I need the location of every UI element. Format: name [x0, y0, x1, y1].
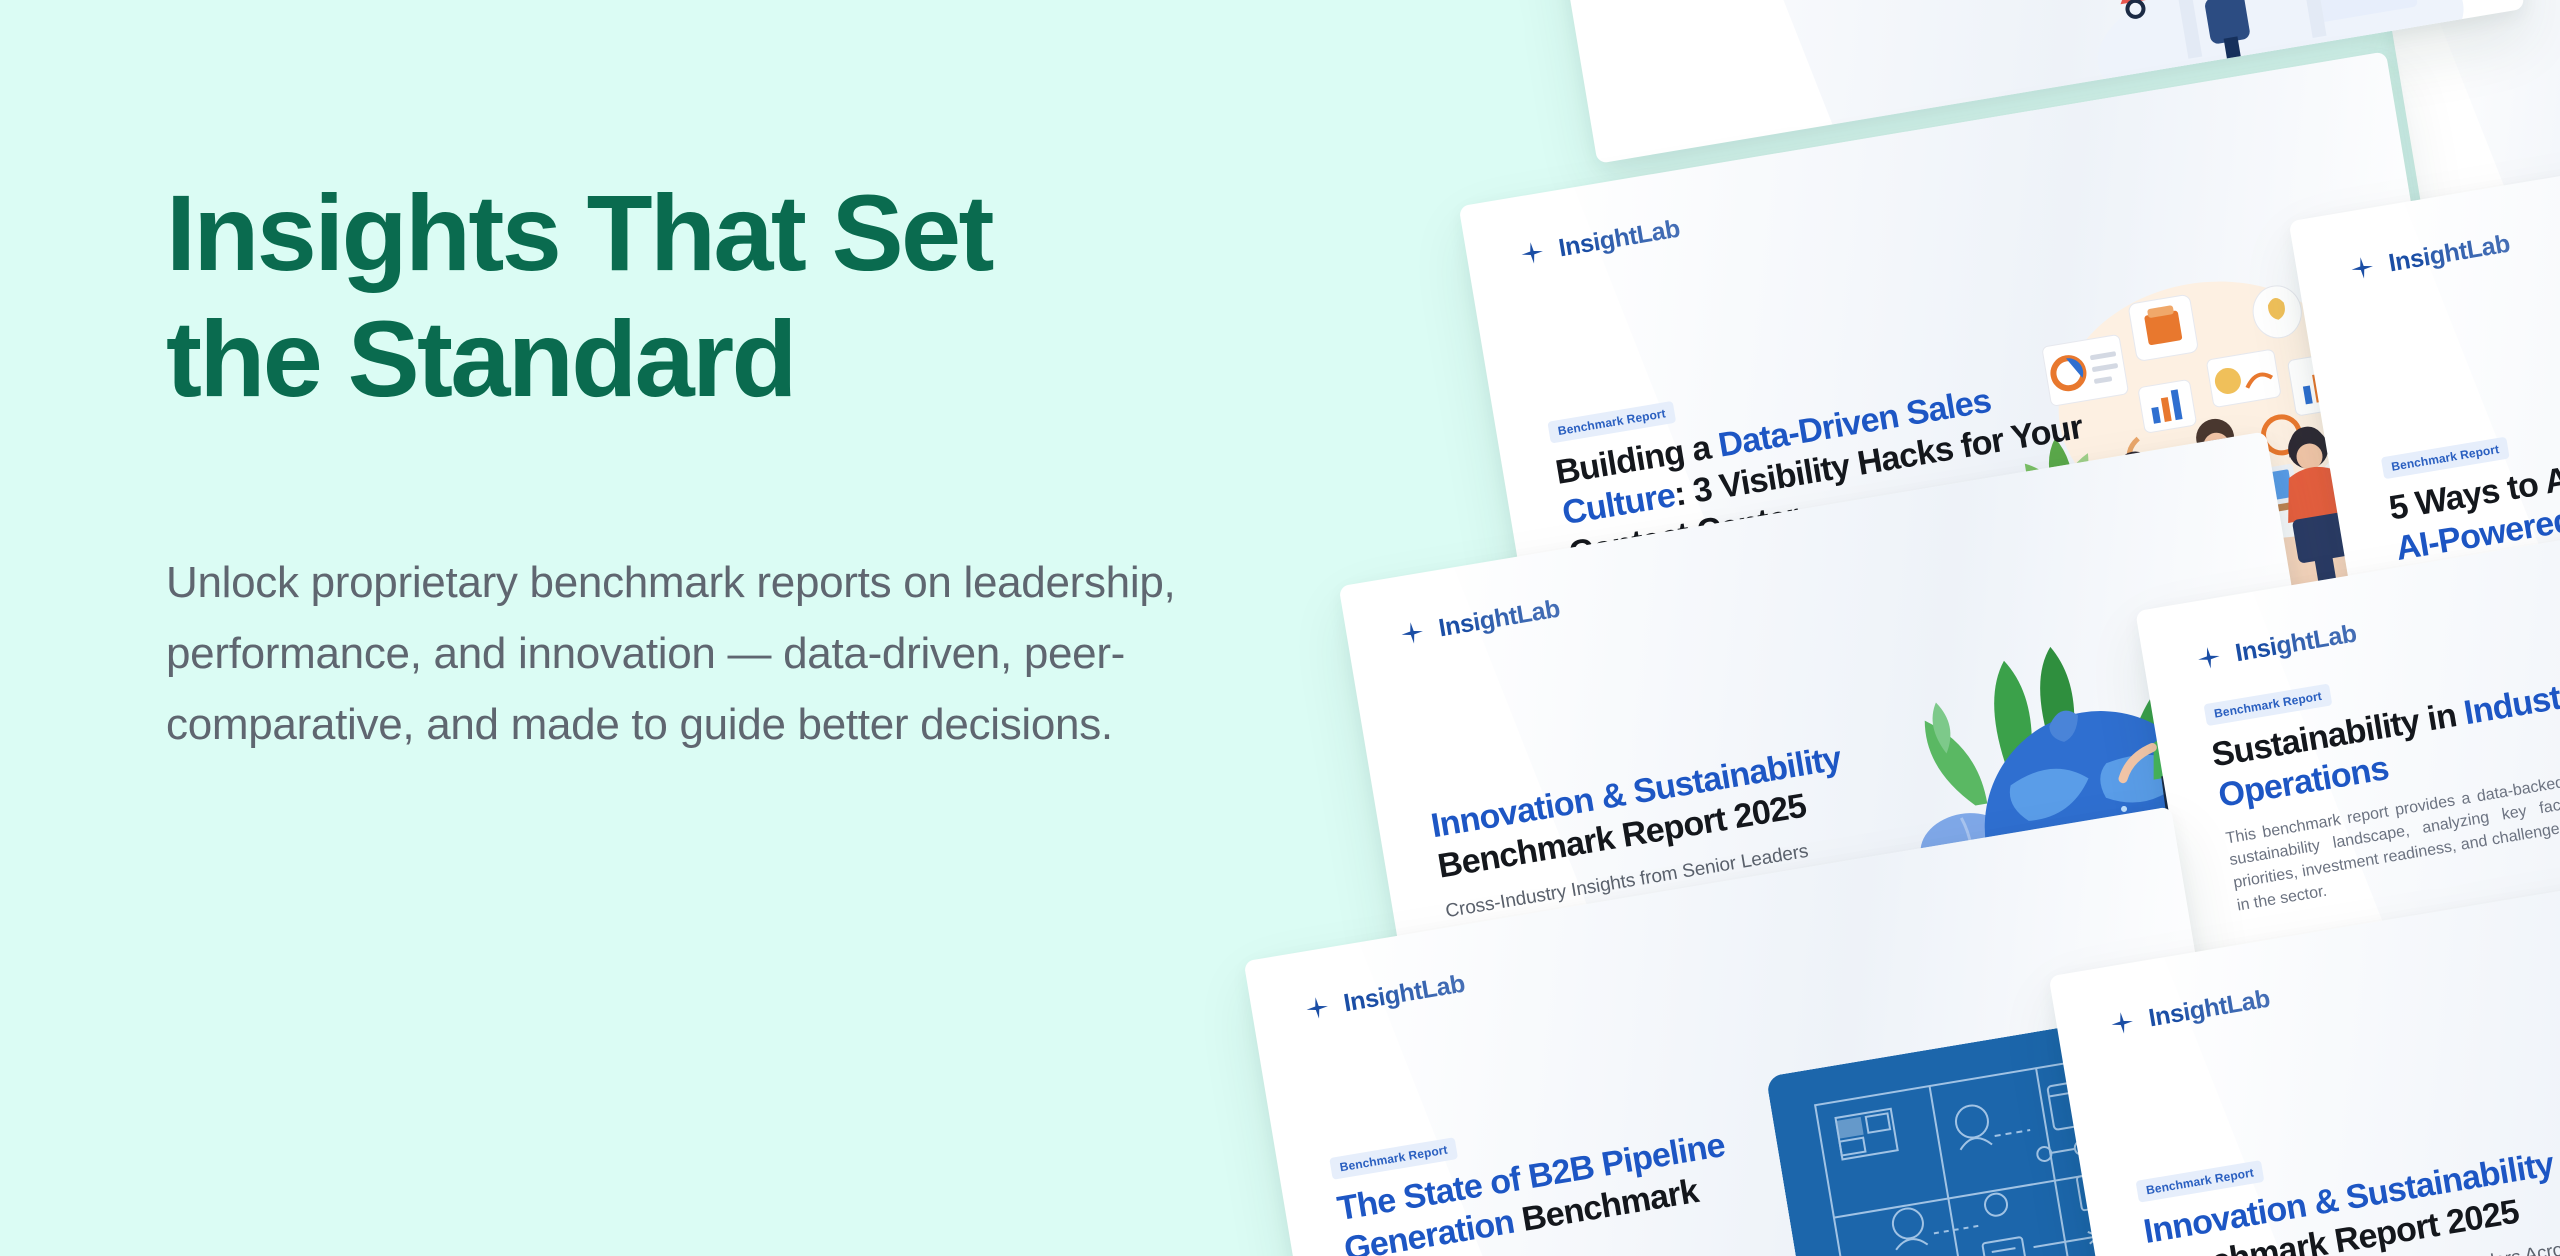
card-body: Benchmark Report The State of B2B Pipeli…	[1329, 1021, 2185, 1256]
logo-wordmark: InsightLab	[1437, 595, 1562, 644]
card-body: Benchmark Report 5 Ways to Accelerate Re…	[2381, 319, 2560, 569]
sparkle-icon	[1397, 619, 1427, 649]
sparkle-icon	[1517, 239, 1547, 269]
card-title: Innovation & Sustainability Benchmark Re…	[2141, 1138, 2560, 1256]
sparkle-icon	[1302, 994, 1332, 1024]
sparkle-icon	[2347, 254, 2377, 284]
hero-section: InsightLab Benchmark Report Building a D…	[0, 0, 2560, 1256]
hero-subcopy: Unlock proprietary benchmark reports on …	[166, 547, 1176, 761]
hero-copy: Insights That Set the Standard Unlock pr…	[166, 170, 1246, 761]
card-body: Benchmark Report Innovation & Sustainabi…	[2136, 1043, 2560, 1256]
card-title: The State of B2B Pipeline Generation Ben…	[1335, 1118, 1789, 1256]
card-title: 5 Ways to Accelerate Rep Ramp-Up with AI…	[2386, 387, 2560, 570]
logo-wordmark: InsightLab	[2387, 230, 2512, 279]
sparkle-icon	[2107, 1009, 2137, 1039]
logo-wordmark: InsightLab	[2147, 985, 2272, 1034]
logo-wordmark: InsightLab	[1342, 970, 1467, 1019]
page-title: Insights That Set the Standard	[166, 170, 1246, 423]
logo-wordmark: InsightLab	[1557, 215, 1682, 264]
logo-wordmark: InsightLab	[2233, 619, 2358, 668]
sparkle-icon	[2194, 643, 2224, 673]
